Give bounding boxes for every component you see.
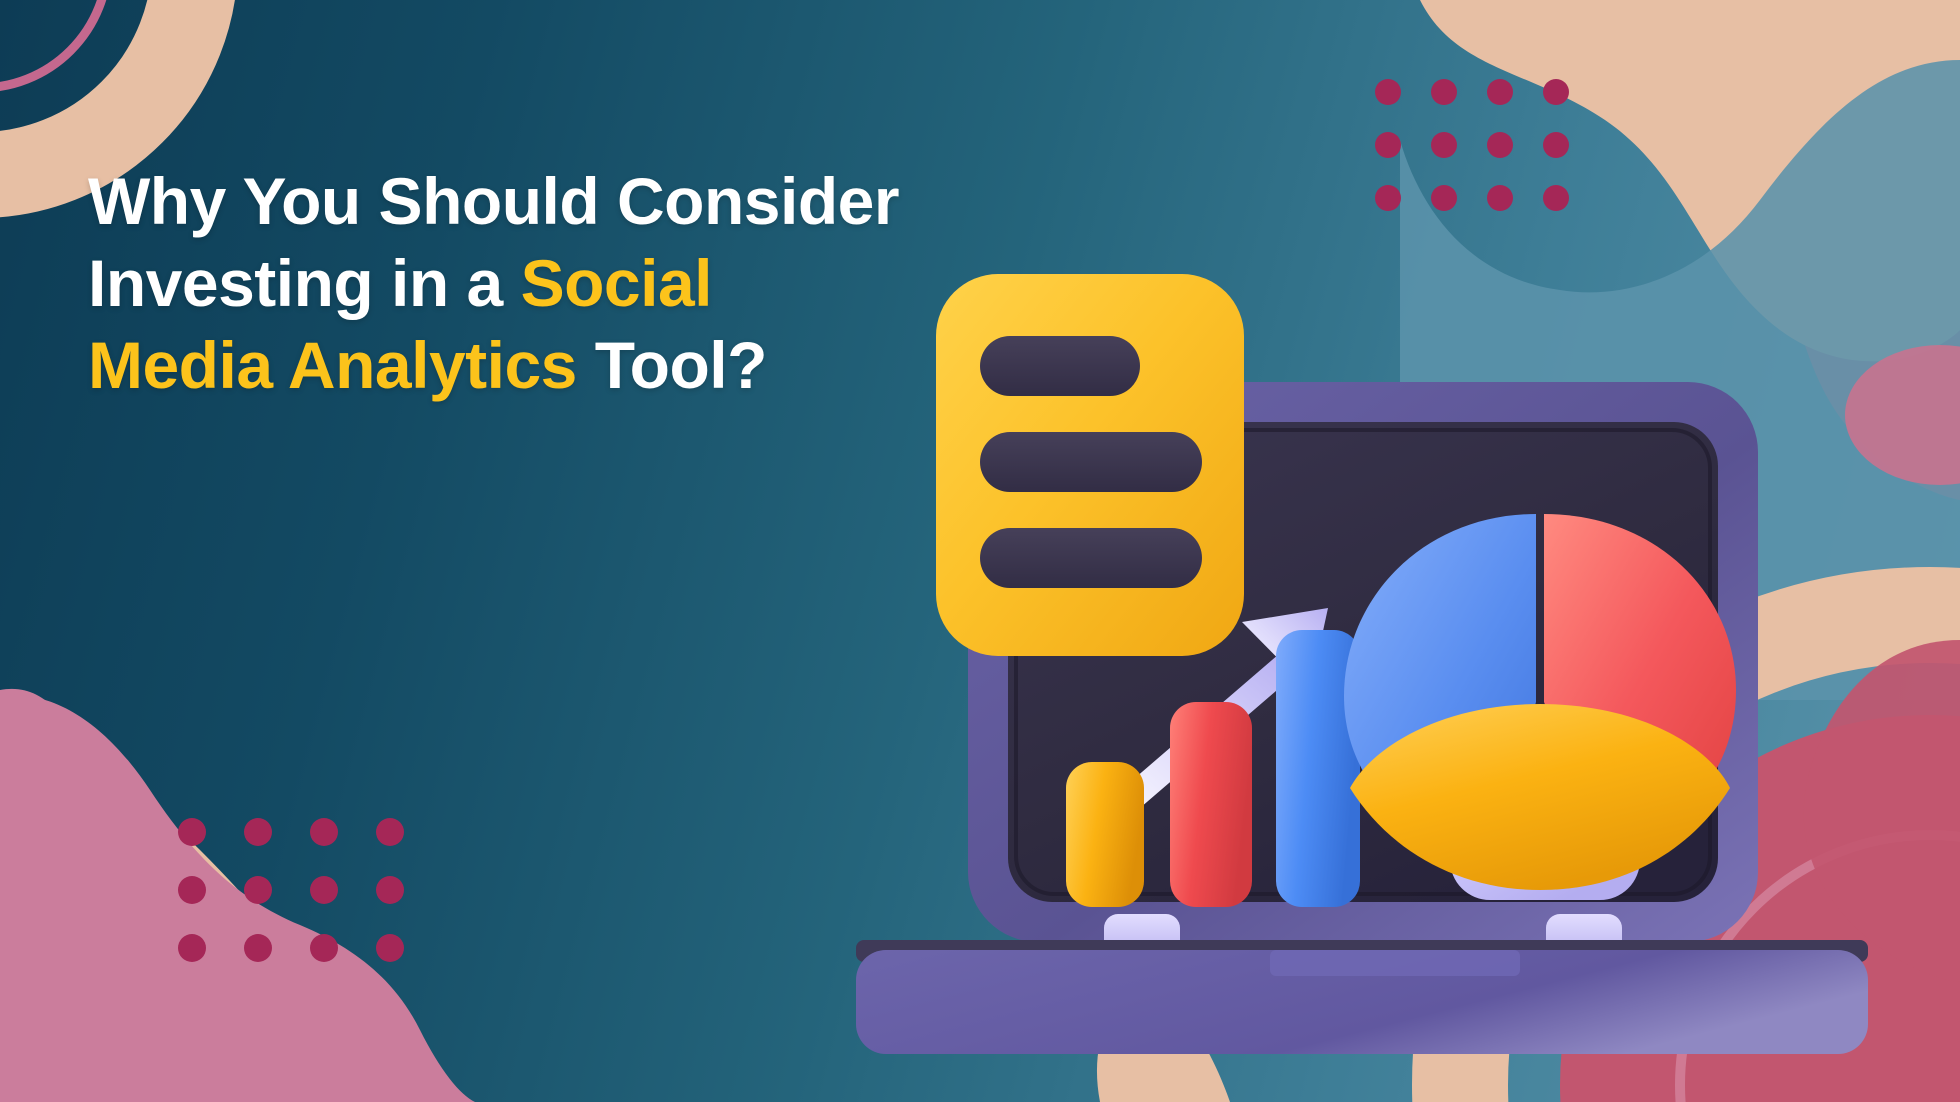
page-title: Why You Should Consider Investing in a S… xyxy=(88,160,1048,406)
bar-2-red xyxy=(1170,702,1252,907)
headline-line-2-accent: Social xyxy=(521,246,712,320)
headline-line-2-plain: Investing in a xyxy=(88,246,521,320)
headline-line-3: Media Analytics Tool? xyxy=(88,324,1048,406)
laptop-base xyxy=(856,940,1868,1054)
headline-line-3-accent: Media Analytics xyxy=(88,328,577,402)
bar-1-yellow xyxy=(1066,762,1144,907)
hero-banner: Why You Should Consider Investing in a S… xyxy=(0,0,1960,1102)
trackpad-notch xyxy=(1270,950,1520,976)
headline-line-2: Investing in a Social xyxy=(88,242,1048,324)
bottom-left-pink-blob-2 xyxy=(0,695,475,1102)
headline-line-3-plain: Tool? xyxy=(577,328,767,402)
headline-line-1: Why You Should Consider xyxy=(88,160,1048,242)
card-bar-2 xyxy=(980,432,1202,492)
card-bar-3 xyxy=(980,528,1202,588)
